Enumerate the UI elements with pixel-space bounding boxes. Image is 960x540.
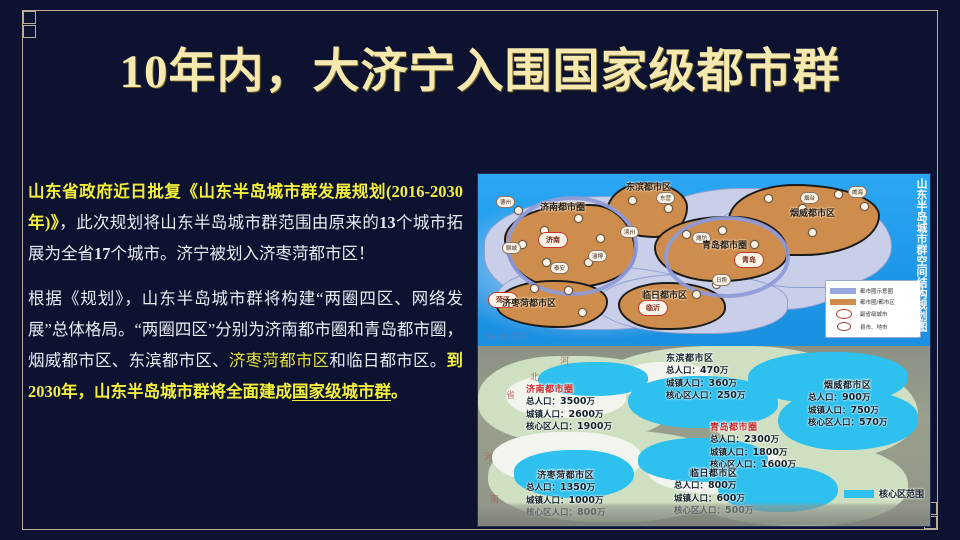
legend-label: 副省级城市 bbox=[860, 310, 888, 318]
stat-unit: 万 bbox=[870, 406, 879, 416]
map-region-label-jizaohe: 济枣菏都市区 bbox=[502, 296, 556, 309]
stat-block-dongbin: 东滨都市区 总人口：470万 城镇人口：360万 核心区人口：250万 bbox=[666, 351, 745, 403]
neighbor-province-label: 省 bbox=[506, 388, 515, 401]
frame-corner-mark bbox=[23, 25, 36, 38]
stat-urban-line: 城镇人口：360万 bbox=[666, 378, 745, 391]
stat-unit: 万 bbox=[770, 435, 779, 445]
legend-label: 都市圈/都市区 bbox=[860, 298, 895, 306]
stat-label-total: 总人口： bbox=[666, 366, 700, 376]
stat-value-total: 800 bbox=[708, 480, 728, 491]
p2-highlight-national-cluster: 国家级城市群 bbox=[292, 382, 391, 401]
stat-label-total: 总人口： bbox=[808, 393, 842, 403]
stat-value-total: 1350 bbox=[560, 482, 586, 493]
stat-value-total: 3500 bbox=[560, 396, 586, 407]
legend-row: 县市、地市 bbox=[830, 320, 916, 333]
map-city-label-linyi: 临沂 bbox=[638, 300, 668, 316]
stat-label-urban: 城镇人口： bbox=[674, 494, 717, 504]
stat-region-name: 济南都市圈 bbox=[526, 382, 612, 395]
map-city-label-taian: 泰安 bbox=[550, 262, 569, 274]
stat-label-core: 核心区人口： bbox=[526, 422, 577, 432]
stat-label-urban: 城镇人口： bbox=[666, 379, 709, 389]
stat-label-total: 总人口： bbox=[526, 397, 560, 407]
stat-region-name: 临日都市区 bbox=[674, 466, 753, 479]
map-figure-stack: 德州 滨州 东营 潍坊 烟台 威海 泰安 淄博 聊城 日照 济南 青岛 临沂 菏… bbox=[478, 174, 930, 526]
p1-text-2: ，此次规划将山东半岛城市群范围由原来的 bbox=[59, 213, 379, 232]
stat-value-urban: 2600 bbox=[569, 409, 595, 420]
stat-value-core: 1600 bbox=[761, 459, 787, 470]
slide-root: 10年内，大济宁入围国家级都市群 山东省政府近日批复《山东半岛城市群发展规划(2… bbox=[0, 0, 960, 540]
stat-label-urban: 城镇人口： bbox=[808, 406, 851, 416]
map-city-dot bbox=[530, 284, 539, 293]
map-city-label-rizhao: 日照 bbox=[712, 274, 731, 286]
legend-row: 都市圈/都市区 bbox=[830, 296, 916, 307]
stat-unit: 万 bbox=[862, 393, 871, 403]
legend-zone-swatch-icon bbox=[830, 299, 856, 305]
stat-label-urban: 城镇人口： bbox=[526, 410, 569, 420]
stat-label-core: 核心区人口： bbox=[666, 391, 717, 401]
baidu-watermark: Baidu 百科 bbox=[486, 331, 527, 342]
map-legend-top: 都市圈示意圈 都市圈/都市区 副省级城市 县市、地市 bbox=[825, 280, 921, 338]
stat-unit: 万 bbox=[736, 494, 745, 504]
stat-block-yanwei: 烟威都市区 总人口：900万 城镇人口：750万 核心区人口：570万 bbox=[808, 378, 887, 430]
map-city-label-binzhou: 滨州 bbox=[620, 226, 639, 238]
p2-highlight-jizaohe: 济枣菏都市区 bbox=[229, 351, 329, 370]
legend-subprovincial-city-icon bbox=[836, 309, 852, 319]
stat-unit: 万 bbox=[603, 422, 612, 432]
map-city-dot bbox=[750, 240, 759, 249]
stat-unit: 万 bbox=[728, 481, 737, 491]
stat-urban-line: 城镇人口：2600万 bbox=[526, 409, 612, 422]
stat-value-urban: 360 bbox=[709, 378, 729, 389]
stat-block-qingdao: 青岛都市圈 总人口：2300万 城镇人口：1800万 核心区人口：1600万 bbox=[710, 420, 796, 472]
stat-core-line: 核心区人口：250万 bbox=[666, 390, 745, 403]
map-city-label-dezhou: 德州 bbox=[496, 196, 515, 208]
stat-total-line: 总人口：3500万 bbox=[526, 396, 612, 409]
stat-unit: 万 bbox=[595, 410, 604, 420]
stat-label-total: 总人口： bbox=[674, 481, 708, 491]
map-city-label-liaocheng: 聊城 bbox=[502, 242, 521, 254]
stat-value-urban: 1800 bbox=[753, 447, 779, 458]
map-region-label-linri: 临日都市区 bbox=[642, 288, 687, 301]
stat-unit: 万 bbox=[879, 418, 888, 428]
map-major-city-qingdao: 青岛 bbox=[734, 252, 764, 268]
stat-block-jinan: 济南都市圈 总人口：3500万 城镇人口：2600万 核心区人口：1900万 bbox=[526, 382, 612, 434]
p2-text-4: 和临日都市区。 bbox=[329, 351, 446, 370]
map-vertical-title: 山东半岛城市群空间结构规划图 bbox=[909, 178, 927, 332]
map-city-dot bbox=[574, 214, 583, 223]
p1-number-13: 13 bbox=[379, 213, 396, 232]
map-legend-bottom: 核心区范围 bbox=[844, 487, 924, 500]
stat-unit: 万 bbox=[586, 483, 595, 493]
stat-value-total: 2300 bbox=[744, 434, 770, 445]
p2-text-7: 。 bbox=[391, 382, 408, 401]
stat-total-line: 总人口：470万 bbox=[666, 365, 745, 378]
stat-total-line: 总人口：800万 bbox=[674, 480, 753, 493]
map-city-label-yantai: 烟台 bbox=[800, 192, 819, 204]
map-city-dot bbox=[596, 234, 605, 243]
stat-unit: 万 bbox=[779, 448, 788, 458]
p1-number-17: 17 bbox=[94, 244, 111, 263]
stat-unit: 万 bbox=[737, 391, 746, 401]
legend-row: 副省级城市 bbox=[830, 307, 916, 320]
map-city-dot bbox=[860, 202, 869, 211]
stat-unit: 万 bbox=[586, 397, 595, 407]
map-major-city-jinan: 济南 bbox=[538, 232, 568, 248]
map-city-dot bbox=[764, 194, 773, 203]
legend-label: 都市圈示意圈 bbox=[860, 287, 893, 295]
map-city-dot bbox=[718, 226, 727, 235]
map-city-dot bbox=[682, 230, 691, 239]
stat-label-core: 核心区人口： bbox=[808, 418, 859, 428]
neighbor-province-label: 河 bbox=[484, 450, 493, 463]
article-text-column: 山东省政府近日批复《山东半岛城市群发展规划(2016-2030年)》，此次规划将… bbox=[28, 176, 463, 421]
page-title: 10年内，大济宁入围国家级都市群 bbox=[0, 47, 960, 99]
stat-value-urban: 750 bbox=[851, 405, 871, 416]
map-population-stats: 河 北 省 河 南 济南都市圈 总人口：3500万 城镇人口：2600万 核心区… bbox=[478, 346, 930, 526]
stat-value-urban: 600 bbox=[717, 493, 737, 504]
map-city-dot bbox=[514, 206, 523, 215]
stat-total-line: 总人口：2300万 bbox=[710, 434, 796, 447]
map-city-dot bbox=[664, 204, 673, 213]
map-city-dot bbox=[834, 190, 843, 199]
paragraph-1: 山东省政府近日批复《山东半岛城市群发展规划(2016-2030年)》，此次规划将… bbox=[28, 176, 463, 269]
stat-label-total: 总人口： bbox=[526, 483, 560, 493]
legend-ring-swatch-icon bbox=[830, 288, 856, 294]
map-region-label-jinan-circle: 济南都市圈 bbox=[540, 200, 585, 213]
stat-core-line: 核心区人口：570万 bbox=[808, 417, 887, 430]
frame-corner-mark bbox=[23, 11, 36, 24]
core-zone-legend-label: 核心区范围 bbox=[879, 487, 924, 500]
p2-text-1: 根据《规划》 bbox=[28, 289, 124, 308]
map-city-label-weihai: 威海 bbox=[848, 186, 867, 198]
stat-value-core: 250 bbox=[717, 390, 737, 401]
paragraph-2: 根据《规划》，山东半岛城市群将构建“两圈四区、网络发展”总体格局。“两圈四区”分… bbox=[28, 283, 463, 407]
map-region-label-dongbin: 东滨都市区 bbox=[626, 180, 671, 193]
stat-value-core: 570 bbox=[859, 417, 879, 428]
map-city-dot bbox=[578, 308, 587, 317]
stat-region-name: 烟威都市区 bbox=[808, 378, 887, 391]
legend-label: 县市、地市 bbox=[860, 323, 888, 331]
stat-label-total: 总人口： bbox=[710, 435, 744, 445]
map-metro-ring-qingdao bbox=[664, 216, 790, 298]
stat-region-name: 济枣菏都市区 bbox=[526, 468, 605, 481]
stat-value-total: 900 bbox=[842, 392, 862, 403]
map-bottom-blur-strip bbox=[478, 504, 930, 526]
stat-urban-line: 城镇人口：1800万 bbox=[710, 447, 796, 460]
map-city-dot bbox=[808, 228, 817, 237]
map-city-dot bbox=[564, 286, 573, 295]
stat-total-line: 总人口：900万 bbox=[808, 392, 887, 405]
map-region-label-yanwei: 烟威都市区 bbox=[790, 206, 835, 219]
core-zone-swatch-icon bbox=[844, 490, 874, 498]
stat-region-name: 东滨都市区 bbox=[666, 351, 745, 364]
map-spatial-structure: 德州 滨州 东营 潍坊 烟台 威海 泰安 淄博 聊城 日照 济南 青岛 临沂 菏… bbox=[478, 174, 930, 346]
legend-row: 都市圈示意圈 bbox=[830, 285, 916, 296]
map-city-label-dongying: 东营 bbox=[656, 192, 675, 204]
map-city-label-zibo: 淄博 bbox=[588, 250, 607, 262]
map-city-dot bbox=[692, 290, 701, 299]
stat-unit: 万 bbox=[720, 366, 729, 376]
stat-unit: 万 bbox=[728, 379, 737, 389]
stat-core-line: 核心区人口：1900万 bbox=[526, 421, 612, 434]
stat-value-core: 1900 bbox=[577, 421, 603, 432]
stat-urban-line: 城镇人口：750万 bbox=[808, 405, 887, 418]
map-city-dot bbox=[628, 196, 637, 205]
stat-unit: 万 bbox=[787, 460, 796, 470]
stat-region-name: 青岛都市圈 bbox=[710, 420, 796, 433]
stat-value-total: 470 bbox=[700, 365, 720, 376]
stat-label-urban: 城镇人口： bbox=[710, 448, 753, 458]
map-region-label-qingdao-circle: 青岛都市圈 bbox=[702, 238, 747, 251]
p1-text-6: 个城市。济宁被划入济枣菏都市区！ bbox=[111, 244, 375, 263]
legend-county-city-icon bbox=[837, 322, 851, 331]
neighbor-province-label: 河 bbox=[560, 354, 569, 367]
stat-total-line: 总人口：1350万 bbox=[526, 482, 605, 495]
